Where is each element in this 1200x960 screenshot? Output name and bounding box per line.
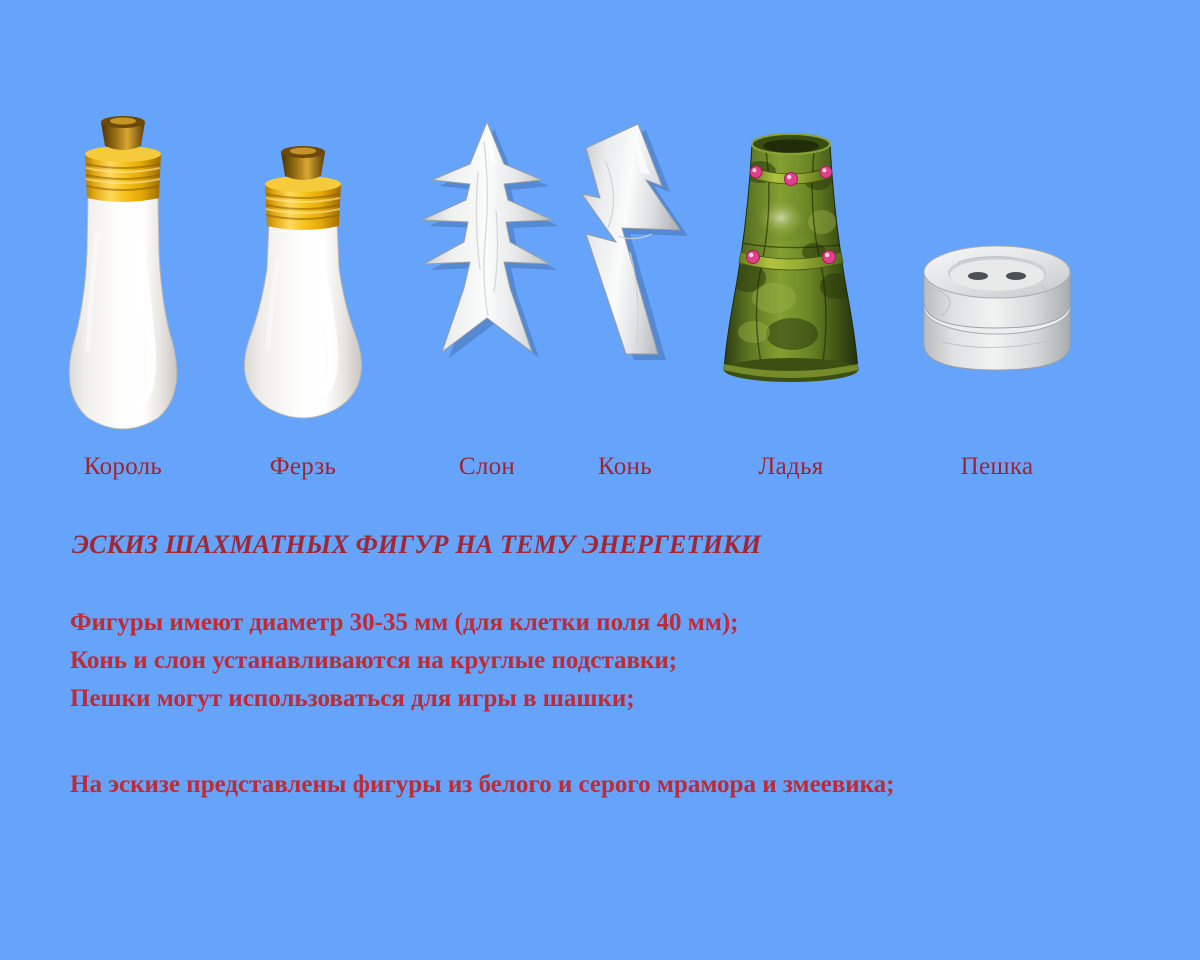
presentation-slide: Король bbox=[0, 0, 1200, 960]
figure-queen: Ферзь bbox=[208, 0, 398, 500]
socket-slot-left bbox=[968, 272, 988, 280]
spec-line-bases: Конь и слон устанавливаются на круглые п… bbox=[70, 644, 1130, 678]
socket-slot-right bbox=[1006, 272, 1026, 280]
king-artwork bbox=[28, 102, 218, 432]
chess-figures-row: Король bbox=[0, 0, 1200, 500]
figure-rook: Ладья bbox=[696, 0, 886, 500]
knight-artwork bbox=[530, 102, 720, 432]
pawn-artwork bbox=[902, 102, 1092, 432]
spec-line-diameter: Фигуры имеют диаметр 30-35 мм (для клетк… bbox=[70, 606, 1130, 640]
page-title: ЭСКИЗ ШАХМАТНЫХ ФИГУР НА ТЕМУ ЭНЕРГЕТИКИ bbox=[72, 528, 1130, 562]
specification-list: Фигуры имеют диаметр 30-35 мм (для клетк… bbox=[70, 606, 1130, 716]
figure-label-pawn: Пешка bbox=[902, 452, 1092, 482]
spec-line-checkers: Пешки могут использоваться для игры в ша… bbox=[70, 682, 1130, 716]
figure-king: Король bbox=[28, 0, 218, 500]
figure-pawn: Пешка bbox=[902, 0, 1092, 500]
rook-artwork bbox=[696, 102, 886, 432]
power-socket-disc-icon bbox=[902, 102, 1092, 432]
slide-text-block: ЭСКИЗ ШАХМАТНЫХ ФИГУР НА ТЕМУ ЭНЕРГЕТИКИ… bbox=[70, 528, 1130, 802]
figure-label-knight: Конь bbox=[530, 452, 720, 482]
queen-artwork bbox=[208, 102, 398, 432]
light-bulb-short-icon bbox=[208, 102, 398, 432]
materials-note: На эскизе представлены фигуры из белого … bbox=[70, 768, 1130, 802]
lightning-bolt-arrow-icon bbox=[530, 102, 720, 432]
figure-label-rook: Ладья bbox=[696, 452, 886, 482]
figure-label-queen: Ферзь bbox=[208, 452, 398, 482]
cooling-tower-icon bbox=[696, 102, 886, 432]
figure-knight: Конь bbox=[530, 0, 720, 500]
figure-label-king: Король bbox=[28, 452, 218, 482]
light-bulb-tall-icon bbox=[28, 102, 218, 432]
